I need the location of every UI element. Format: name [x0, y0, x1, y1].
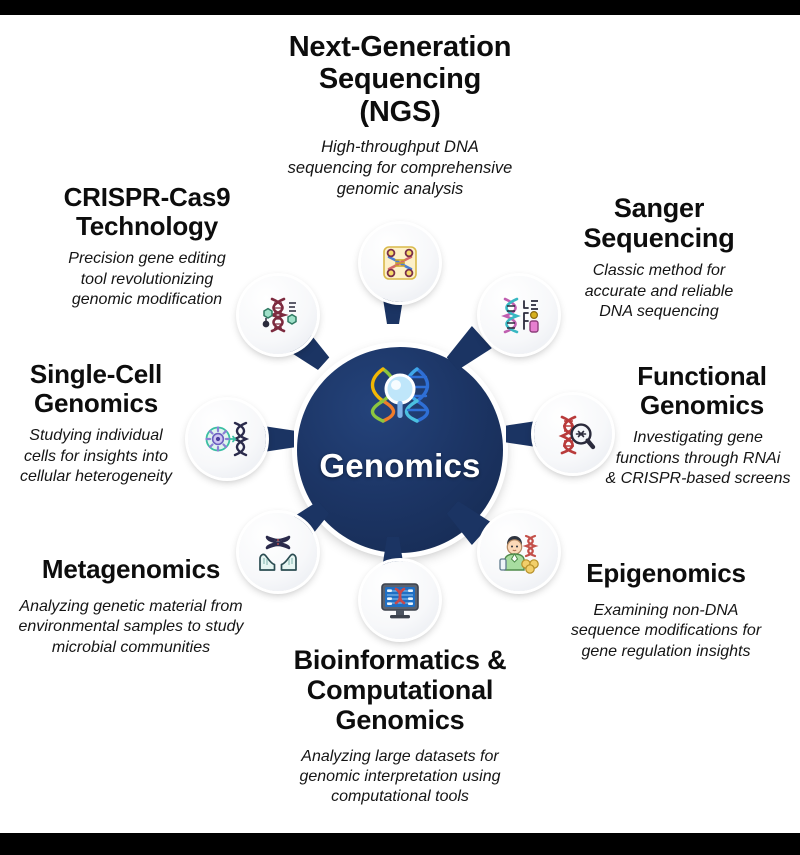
node-title-functional: Functional Genomics: [604, 362, 800, 420]
node-desc-ngs: High-throughput DNA sequencing for compr…: [235, 137, 565, 200]
node-icon-bioinformatics[interactable]: [361, 561, 439, 639]
dna-gel-sequencing-icon: [480, 276, 558, 354]
node-text-bioinformatics: Bioinformatics & Computational Genomics …: [250, 645, 550, 808]
node-desc-epigenomics: Examining non-DNA sequence modifications…: [540, 601, 792, 662]
node-title-crispr: CRISPR-Cas9 Technology: [22, 183, 272, 241]
node-desc-sanger: Classic method for accurate and reliable…: [535, 261, 783, 322]
node-text-metagenomics: Metagenomics Analyzing genetic material …: [0, 555, 262, 658]
letterbox-top: [0, 0, 800, 15]
node-icon-metagenomics[interactable]: [239, 513, 317, 591]
node-text-single-cell: Single-Cell Genomics Studying individual…: [0, 360, 196, 487]
node-icon-functional[interactable]: [534, 395, 612, 473]
node-title-bioinformatics: Bioinformatics & Computational Genomics: [250, 645, 550, 736]
cell-dna-icon: [188, 400, 266, 478]
letterbox-bottom: [0, 833, 800, 855]
node-desc-functional: Investigating gene functions through RNA…: [598, 428, 798, 489]
node-text-sanger: Sanger Sequencing Classic method for acc…: [535, 193, 783, 322]
node-desc-metagenomics: Analyzing genetic material from environm…: [0, 597, 262, 658]
scientist-dna-icon: [480, 513, 558, 591]
infographic-stage: Genomics: [0, 0, 800, 855]
node-text-epigenomics: Epigenomics Examining non-DNA sequence m…: [540, 559, 792, 662]
node-icon-epigenomics[interactable]: [480, 513, 558, 591]
node-title-metagenomics: Metagenomics: [0, 555, 262, 584]
dna-magnifier-red-icon: [534, 395, 612, 473]
node-title-ngs: Next-Generation Sequencing (NGS): [235, 31, 565, 128]
node-title-single-cell: Single-Cell Genomics: [0, 360, 196, 418]
node-icon-sanger[interactable]: [480, 276, 558, 354]
node-title-sanger: Sanger Sequencing: [535, 193, 783, 253]
dna-magnifier-icon: [363, 363, 437, 425]
node-icon-crispr[interactable]: [239, 276, 317, 354]
dna-chip-icon: [361, 224, 439, 302]
node-text-ngs: Next-Generation Sequencing (NGS) High-th…: [235, 31, 565, 200]
hub-label: Genomics: [319, 447, 480, 485]
dna-gene-editing-icon: [239, 276, 317, 354]
node-icon-ngs[interactable]: [361, 224, 439, 302]
node-title-epigenomics: Epigenomics: [540, 559, 792, 588]
node-icon-single-cell[interactable]: [188, 400, 266, 478]
node-desc-crispr: Precision gene editing tool revolutioniz…: [22, 249, 272, 310]
infographic-canvas: Genomics: [0, 15, 800, 833]
node-desc-bioinformatics: Analyzing large datasets for genomic int…: [250, 747, 550, 808]
monitor-dna-icon: [361, 561, 439, 639]
node-desc-single-cell: Studying individual cells for insights i…: [0, 426, 196, 487]
node-text-crispr: CRISPR-Cas9 Technology Precision gene ed…: [22, 183, 272, 310]
node-text-functional: Functional Genomics Investigating gene f…: [604, 362, 800, 489]
hands-holding-dna-icon: [239, 513, 317, 591]
